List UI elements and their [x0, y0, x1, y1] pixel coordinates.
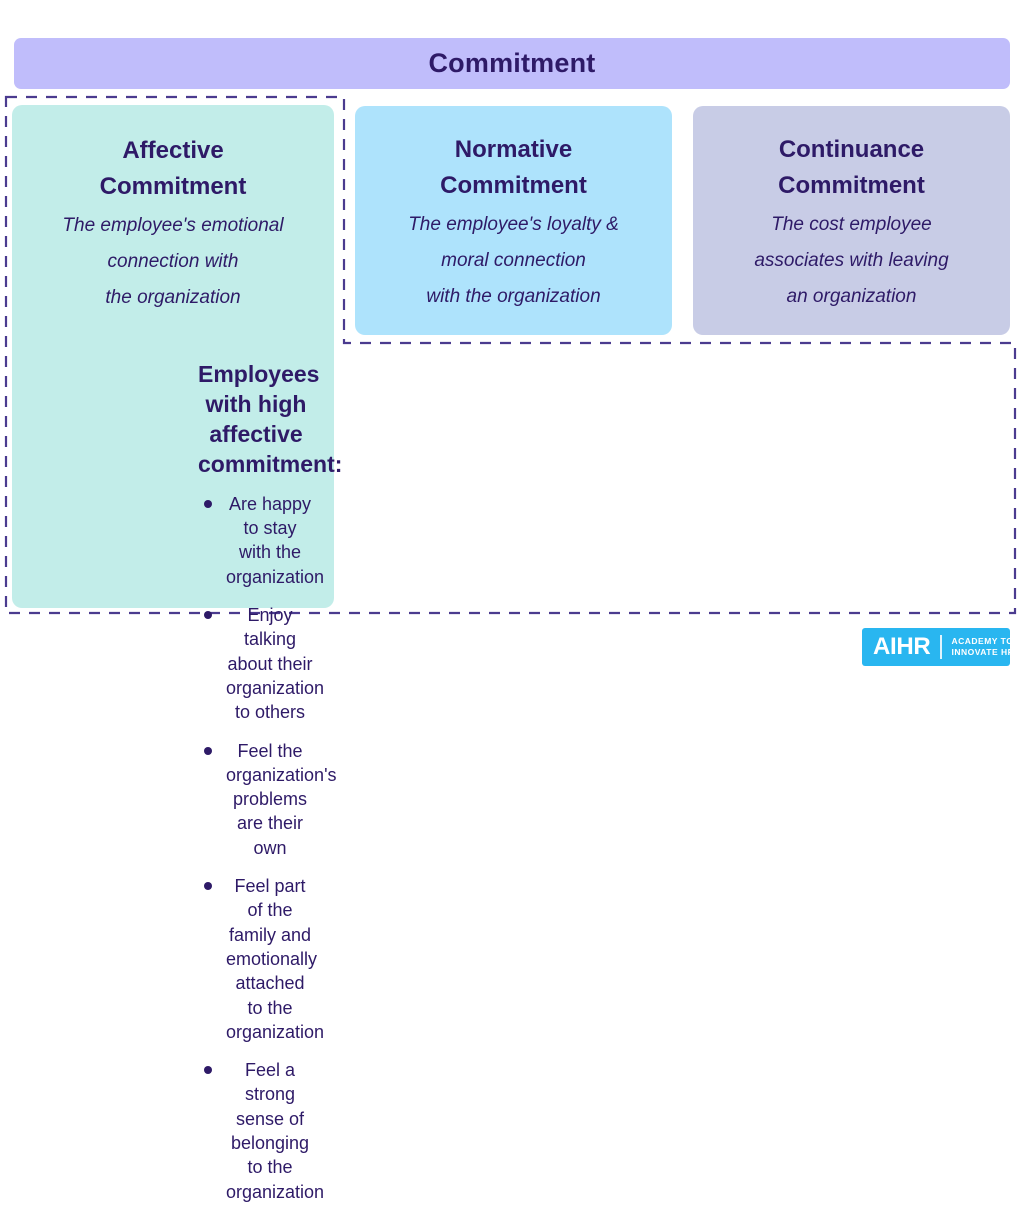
bullet-dot-icon [204, 500, 212, 508]
aihr-logo[interactable]: AIHR ACADEMY TO INNOVATE HR [862, 628, 1010, 666]
list-item-label: Feel a strong sense of belonging to the … [226, 1060, 324, 1201]
logo-tagline: ACADEMY TO INNOVATE HR [951, 636, 1014, 657]
list-item-label: Feel the organization's problems are the… [226, 741, 337, 858]
list-item-label: Feel part of the family and emotionally … [226, 876, 324, 1042]
affective-card-head: Affective Commitment The employee's emot… [12, 105, 334, 316]
list-item: Enjoy talking about their organization t… [198, 603, 314, 724]
detail-heading: Employees with high affective commitment… [198, 360, 314, 480]
card-description-continuance: The cost employee associates with leavin… [754, 207, 948, 315]
list-item: Feel a strong sense of belonging to the … [198, 1058, 314, 1204]
affective-detail-block: Employees with high affective commitment… [12, 360, 334, 1218]
card-title-normative: Normative Commitment [440, 132, 587, 203]
logo-tagline-line1: ACADEMY TO [951, 636, 1014, 647]
list-item: Are happy to stay with the organization [198, 492, 314, 589]
card-title-affective: Affective Commitment [28, 133, 318, 204]
card-description-normative: The employee's loyalty & moral connectio… [408, 207, 619, 315]
logo-tagline-line2: INNOVATE HR [951, 647, 1014, 658]
list-item-label: Enjoy talking about their organization t… [226, 605, 324, 722]
card-title-continuance: Continuance Commitment [778, 132, 925, 203]
card-continuance-commitment[interactable]: Continuance Commitment The cost employee… [693, 106, 1010, 335]
cards-row: Affective Commitment The employee's emot… [0, 0, 1024, 680]
bullet-dot-icon [204, 1066, 212, 1074]
logo-divider [940, 635, 942, 659]
detail-bullet-list: Are happy to stay with the organization … [198, 492, 314, 1204]
list-item-label: Are happy to stay with the organization [226, 494, 324, 587]
diagram-canvas: Commitment Affective Commitment The empl… [0, 0, 1024, 680]
card-normative-commitment[interactable]: Normative Commitment The employee's loya… [355, 106, 672, 335]
card-description-affective: The employee's emotional connection with… [28, 208, 318, 316]
logo-wordmark: AIHR [873, 635, 930, 659]
bullet-dot-icon [204, 882, 212, 890]
bullet-dot-icon [204, 747, 212, 755]
bullet-dot-icon [204, 611, 212, 619]
list-item: Feel part of the family and emotionally … [198, 874, 314, 1044]
list-item: Feel the organization's problems are the… [198, 739, 314, 860]
card-affective-commitment[interactable]: Affective Commitment The employee's emot… [12, 105, 334, 608]
